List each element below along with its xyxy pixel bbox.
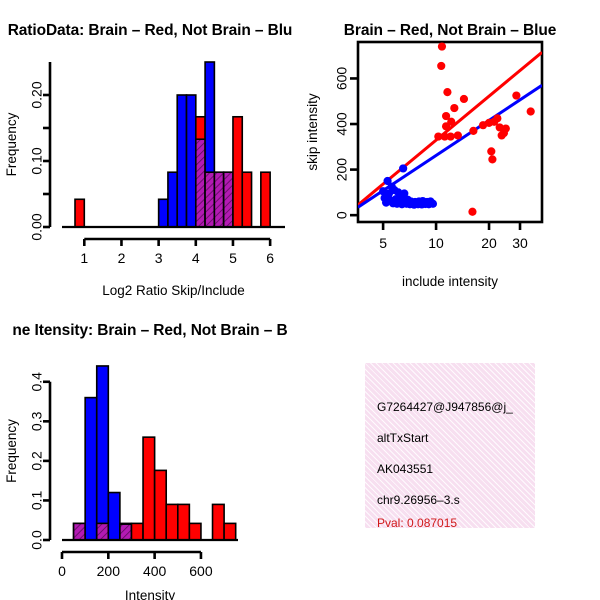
x-axis-label: Intensity (125, 588, 176, 600)
scatter-content (358, 42, 542, 215)
histogram-bar-brain (189, 523, 201, 540)
x-axis-tick-label: 5 (379, 235, 387, 251)
x-axis-tick-label: 20 (481, 235, 497, 251)
y-axis-tick-label: 0 (334, 211, 350, 219)
histogram-bar-brain (131, 523, 143, 540)
scatter-point (447, 132, 455, 140)
y-axis-tick-label: 0.4 (29, 372, 45, 392)
histogram-bar-brain (224, 523, 236, 540)
scatter-point (488, 155, 496, 163)
histogram-bin (213, 504, 225, 540)
histogram-bin (75, 199, 84, 227)
y-axis-tick-label: 0.3 (29, 411, 45, 431)
annotation-pvalue: Pval: 0.087015 (377, 516, 457, 528)
intensity-histogram-plot: 0.00.10.20.30.40200400600IntensityFreque… (0, 300, 300, 600)
x-axis-tick-label: 3 (155, 250, 163, 266)
histogram-bin (224, 523, 236, 540)
y-axis-tick-label: 0.2 (29, 451, 45, 471)
y-axis-tick-label: 600 (334, 67, 350, 91)
scatter-point (487, 147, 495, 155)
histogram-bar-not-brain (159, 199, 168, 227)
histogram-bin (224, 172, 233, 227)
scatter-point (460, 95, 468, 103)
ratio-histogram-plot: 0.000.100.20123456Log2 Ratio Skip/Includ… (0, 0, 300, 300)
x-axis-label: Log2 Ratio Skip/Include (102, 283, 245, 298)
histogram-bin (233, 117, 242, 227)
histogram-bin (85, 398, 97, 540)
histogram-bin (74, 523, 86, 540)
histogram-bar-not-brain (187, 95, 196, 227)
scatter-point (454, 131, 462, 139)
scatter-point (382, 199, 390, 207)
scatter-point (442, 122, 450, 130)
y-axis-tick-label: 400 (334, 112, 350, 136)
annotation-locus: chr9.26956–3.s (377, 493, 460, 507)
y-axis-label: skip intensity (305, 93, 320, 171)
histogram-bin (261, 172, 270, 227)
histogram-bin (168, 172, 177, 227)
histogram-bar-brain (143, 437, 155, 540)
annotation-accession: AK043551 (377, 462, 433, 476)
histogram-bar-brain (261, 172, 270, 227)
histogram-bar-brain (75, 199, 84, 227)
histogram-bar-overlap (120, 524, 132, 540)
histogram-bin (196, 117, 205, 227)
histogram-bar-overlap (205, 172, 214, 227)
histogram-bar-brain (233, 117, 242, 227)
scatter-point (399, 164, 407, 172)
y-axis-tick-label: 0.00 (29, 213, 45, 240)
scatter-point (527, 107, 535, 115)
histogram-bar-overlap (214, 172, 223, 227)
histogram-bar-brain (155, 470, 167, 540)
histogram-bar-brain (213, 504, 225, 540)
histogram-bar-not-brain (108, 493, 120, 540)
scatter-point (438, 42, 446, 50)
histogram-bar-overlap (97, 523, 109, 540)
histogram-bin (189, 523, 201, 540)
x-axis-tick-label: 0 (58, 563, 66, 579)
x-axis-tick-label: 200 (97, 563, 121, 579)
x-axis-tick-label: 1 (80, 250, 88, 266)
histogram-bin (205, 62, 214, 227)
x-axis-tick-label: 400 (143, 563, 167, 579)
histogram-bar-not-brain (85, 398, 97, 540)
x-axis-label: include intensity (402, 274, 498, 289)
histogram-bin (108, 493, 120, 540)
scatter-point (437, 62, 445, 70)
y-axis-label: Frequency (4, 112, 19, 176)
scatter-point (502, 124, 510, 132)
histogram-bin (214, 172, 223, 227)
histogram-bin (143, 437, 155, 540)
panel-annotation-info: G7264427@J947856@j_ altTxStart AK043551 … (300, 300, 600, 600)
histogram-bin (242, 172, 251, 227)
scatter-point (443, 88, 451, 96)
y-axis-label: Frequency (4, 419, 19, 483)
histogram-bin (159, 199, 168, 227)
panel-intensity-histogram: ne Itensity: Brain – Red, Not Brain – B … (0, 300, 300, 600)
histogram-bar-brain (178, 504, 190, 540)
histogram-bin (155, 470, 167, 540)
histogram-bar-brain (166, 504, 178, 540)
x-axis-tick-label: 6 (266, 250, 274, 266)
histogram-bin (187, 95, 196, 227)
scatter-point (468, 208, 476, 216)
histogram-bin (177, 95, 186, 227)
x-axis-tick-label: 10 (428, 235, 444, 251)
histogram-bar-overlap (74, 523, 86, 540)
x-axis-tick-label: 600 (189, 563, 213, 579)
histogram-bar-not-brain (168, 172, 177, 227)
x-axis-tick-label: 4 (192, 250, 200, 266)
scatter-point (469, 127, 477, 135)
annotation-event-type: altTxStart (377, 431, 428, 445)
x-axis-tick-label: 30 (512, 235, 528, 251)
histogram-bin (131, 523, 143, 540)
histogram-bin (178, 504, 190, 540)
y-axis-tick-label: 0.1 (29, 491, 45, 511)
histogram-bar-upper (97, 366, 109, 540)
y-axis-tick-label: 200 (334, 158, 350, 182)
scatter-point (450, 104, 458, 112)
histogram-bar-overlap (196, 139, 205, 227)
scatter-plot: 02004006005102030include intensityskip i… (300, 0, 600, 300)
scatter-point (429, 200, 437, 208)
histogram-bar-overlap (224, 172, 233, 227)
y-axis-tick-label: 0.20 (29, 81, 45, 108)
panel-ratio-histogram: RatioData: Brain – Red, Not Brain – Blu … (0, 0, 300, 300)
x-axis-tick-label: 5 (229, 250, 237, 266)
histogram-bar-brain (242, 172, 251, 227)
scatter-point (512, 91, 520, 99)
annotation-box: G7264427@J947856@j_ altTxStart AK043551 … (365, 363, 535, 528)
histogram-bin (166, 504, 178, 540)
panel-intensity-scatter: Brain – Red, Not Brain – Blue 0200400600… (300, 0, 600, 300)
histogram-bin (97, 366, 109, 540)
scatter-point (493, 114, 501, 122)
annotation-event-id: G7264427@J947856@j_ (377, 400, 513, 414)
histogram-bar-not-brain (177, 95, 186, 227)
y-axis-tick-label: 0.10 (29, 147, 45, 174)
x-axis-tick-label: 2 (118, 250, 126, 266)
histogram-bin (120, 523, 132, 540)
y-axis-tick-label: 0.0 (29, 530, 45, 550)
